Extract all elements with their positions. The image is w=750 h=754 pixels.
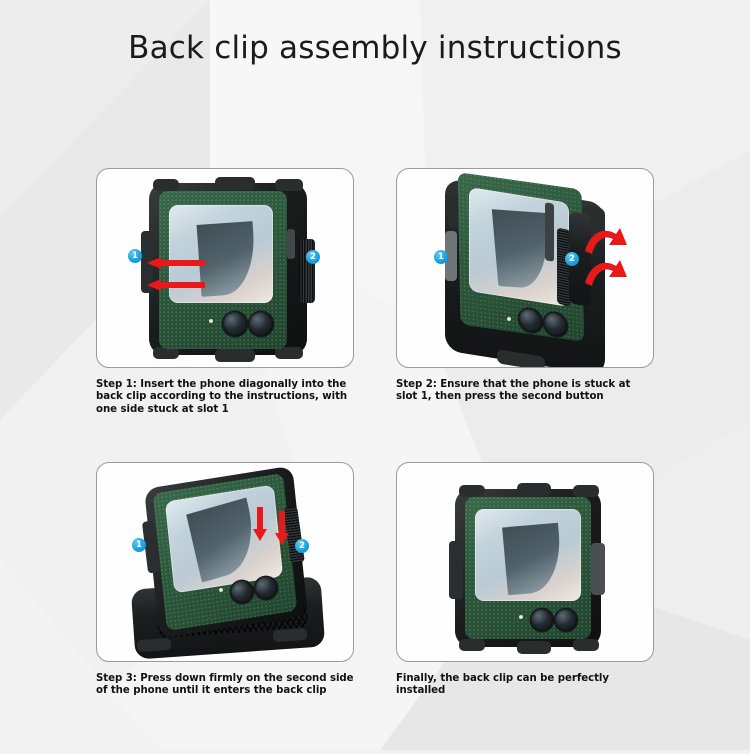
step-1-illustration: 1 2: [97, 169, 353, 367]
step-2-panel: 1 2: [396, 168, 654, 368]
slot-2-release-button: [299, 239, 315, 303]
clip-nub-bc: [517, 641, 551, 654]
screen-wallpaper-shape: [502, 523, 564, 596]
clip-nub-tr: [275, 179, 303, 191]
clip-nub-tl: [459, 485, 485, 497]
clip-nub-bc: [215, 349, 255, 362]
arrow-down-left: [253, 507, 267, 541]
screen-wallpaper-shape: [197, 221, 258, 297]
camera-lens-1: [531, 609, 553, 631]
step-4-caption: Finally, the back clip can be perfectly …: [396, 673, 654, 698]
camera-flash: [219, 588, 223, 592]
step-3-illustration: 1 2: [97, 463, 353, 661]
steps-grid: 1 2 Step 1: Insert the phone diagonally …: [0, 168, 750, 728]
arrow-curved-lower: [583, 257, 629, 291]
cover-screen: [475, 509, 581, 601]
camera-flash: [209, 319, 213, 323]
arrow-down-right: [275, 511, 289, 545]
slot-1-button: [449, 541, 463, 599]
page-title: Back clip assembly instructions: [0, 30, 750, 66]
marker-1: 1: [128, 249, 142, 263]
clip-nub-bl: [459, 639, 485, 651]
cover-screen: [469, 187, 569, 307]
marker-2: 2: [295, 539, 309, 553]
side-key: [287, 229, 295, 259]
marker-2: 2: [306, 250, 320, 264]
clip-nub-bl: [137, 638, 172, 652]
clip-nub-tc: [215, 177, 255, 190]
step-4-illustration: [397, 463, 653, 661]
marker-1: 1: [434, 250, 448, 264]
step-1-cell: 1 2 Step 1: Insert the phone diagonally …: [96, 168, 354, 416]
step-4-panel: [396, 462, 654, 662]
step-3-cell: 1 2 Step 3: Press down firmly on the sec…: [96, 462, 354, 698]
step-1-panel: 1 2: [96, 168, 354, 368]
side-key: [545, 202, 554, 261]
step-3-panel: 1 2: [96, 462, 354, 662]
step-3-caption: Step 3: Press down firmly on the second …: [96, 673, 354, 698]
screen-wallpaper-shape: [186, 497, 262, 582]
arrow-curved-upper: [583, 225, 629, 259]
clip-nub-br: [273, 628, 308, 642]
marker-2: 2: [565, 252, 579, 266]
marker-1: 1: [132, 538, 146, 552]
camera-flash: [507, 317, 511, 321]
arrow-left-lower: [145, 279, 205, 291]
clip-nub-tr: [573, 485, 599, 497]
clip-nub-br: [573, 639, 599, 651]
clip-nub-tl: [153, 179, 179, 191]
camera-lens-1: [223, 312, 247, 336]
arrow-left-upper: [145, 257, 205, 269]
camera-lens-2: [555, 609, 577, 631]
camera-lens-2: [249, 312, 273, 336]
clip-nub-tc: [517, 483, 551, 496]
slot-2-release-button: [591, 543, 605, 595]
step-1-caption: Step 1: Insert the phone diagonally into…: [96, 379, 354, 416]
step-2-illustration: 1 2: [397, 169, 653, 367]
step-2-caption: Step 2: Ensure that the phone is stuck a…: [396, 379, 654, 404]
camera-flash: [519, 615, 523, 619]
step-2-cell: 1 2 Step 2: Ensure that the phone is stu…: [396, 168, 654, 404]
step-4-cell: Finally, the back clip can be perfectly …: [396, 462, 654, 698]
screen-wallpaper-shape: [492, 209, 552, 290]
